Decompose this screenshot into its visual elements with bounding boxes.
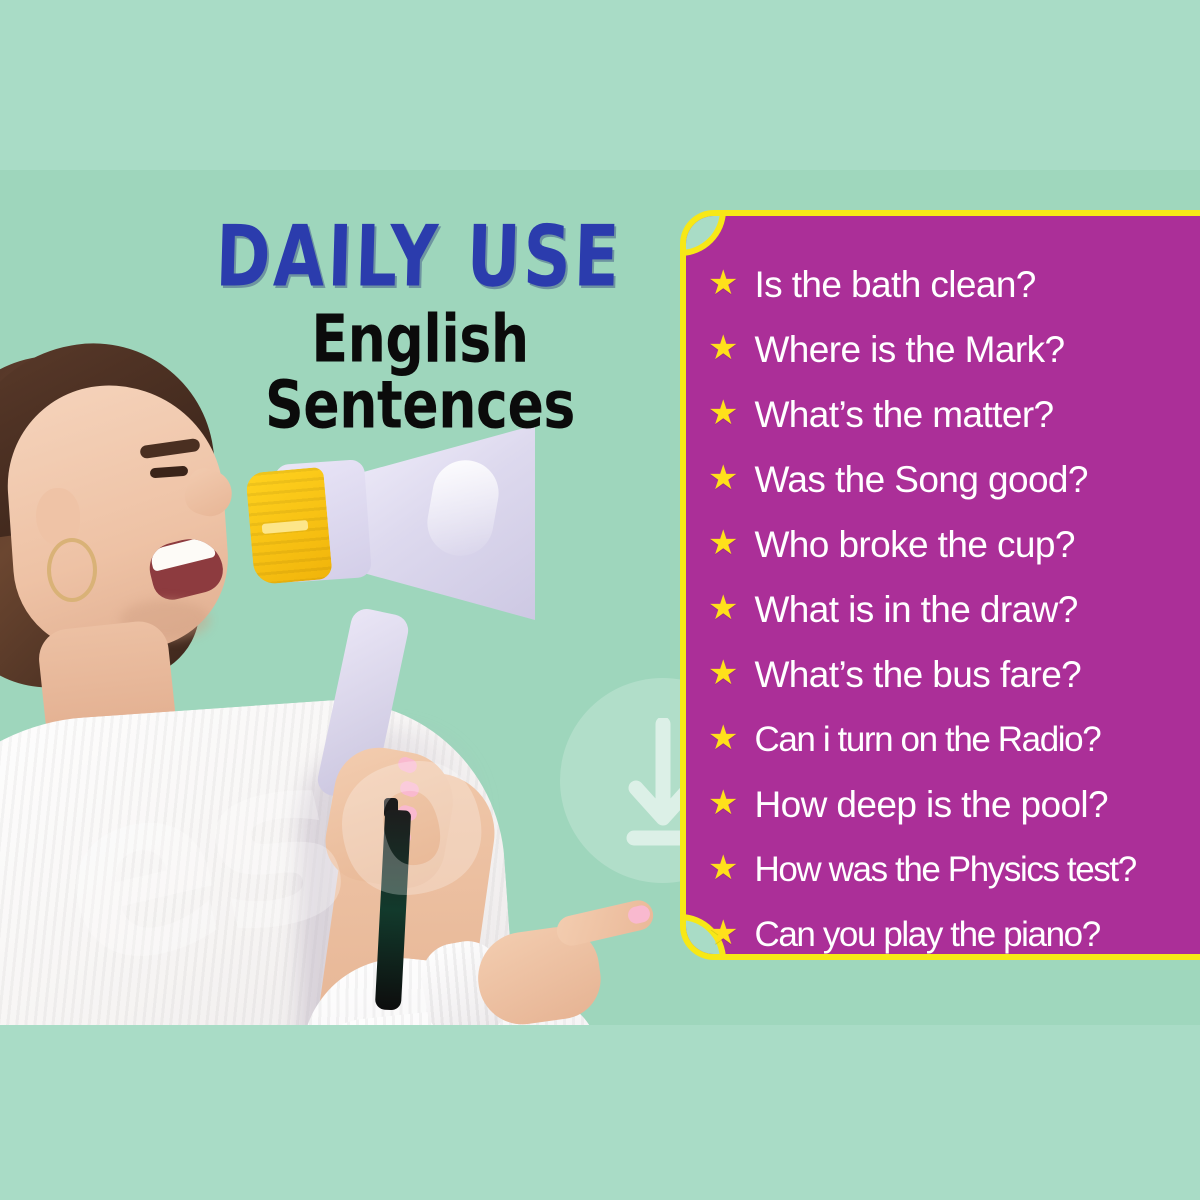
list-item-label: What is in the draw? xyxy=(754,589,1077,631)
list-item[interactable]: ★Was the Song good? xyxy=(708,447,1200,512)
title-secondary: English Sentences xyxy=(180,307,660,439)
list-item-label: What’s the matter? xyxy=(754,394,1053,436)
list-item-label: Can i turn on the Radio? xyxy=(754,720,1100,760)
list-item-label: How deep is the pool? xyxy=(754,784,1108,826)
list-item[interactable]: ★Who broke the cup? xyxy=(708,512,1200,577)
list-item[interactable]: ★How was the Physics test? xyxy=(708,837,1200,902)
list-item-label: How was the Physics test? xyxy=(754,850,1135,890)
list-item[interactable]: ★What’s the matter? xyxy=(708,382,1200,447)
sentence-card: ★Is the bath clean?★Where is the Mark?★W… xyxy=(680,210,1200,960)
list-item[interactable]: ★Can i turn on the Radio? xyxy=(708,707,1200,772)
star-icon: ★ xyxy=(708,656,738,690)
list-item-label: Where is the Mark? xyxy=(754,329,1064,371)
star-icon: ★ xyxy=(708,591,738,625)
star-icon: ★ xyxy=(708,396,738,430)
star-icon: ★ xyxy=(708,721,738,755)
star-icon: ★ xyxy=(708,461,738,495)
list-item[interactable]: ★Is the bath clean? xyxy=(708,252,1200,317)
list-item[interactable]: ★Where is the Mark? xyxy=(708,317,1200,382)
list-item-label: Was the Song good? xyxy=(754,459,1087,501)
hoop-earring xyxy=(47,538,97,602)
star-icon: ★ xyxy=(708,851,738,885)
star-icon: ★ xyxy=(708,916,738,950)
star-icon: ★ xyxy=(708,331,738,365)
list-item-label: What’s the bus fare? xyxy=(754,654,1081,696)
star-icon: ★ xyxy=(708,526,738,560)
list-item-label: Is the bath clean? xyxy=(754,264,1035,306)
list-item[interactable]: ★What’s the bus fare? xyxy=(708,642,1200,707)
title-block: Daily Use English Sentences xyxy=(170,215,670,419)
star-icon: ★ xyxy=(708,266,738,300)
list-item-label: Can you play the piano? xyxy=(754,915,1099,955)
list-item[interactable]: ★How deep is the pool? xyxy=(708,772,1200,837)
poster-root: eso Daily Use English Sentences ★Is the … xyxy=(0,0,1200,1200)
star-icon: ★ xyxy=(708,786,738,820)
list-item[interactable]: ★Can you play the piano? xyxy=(708,902,1200,960)
sentence-list: ★Is the bath clean?★Where is the Mark?★W… xyxy=(686,216,1200,960)
list-item[interactable]: ★What is in the draw? xyxy=(708,577,1200,642)
list-item-label: Who broke the cup? xyxy=(754,524,1074,566)
title-primary: Daily Use xyxy=(168,215,670,299)
